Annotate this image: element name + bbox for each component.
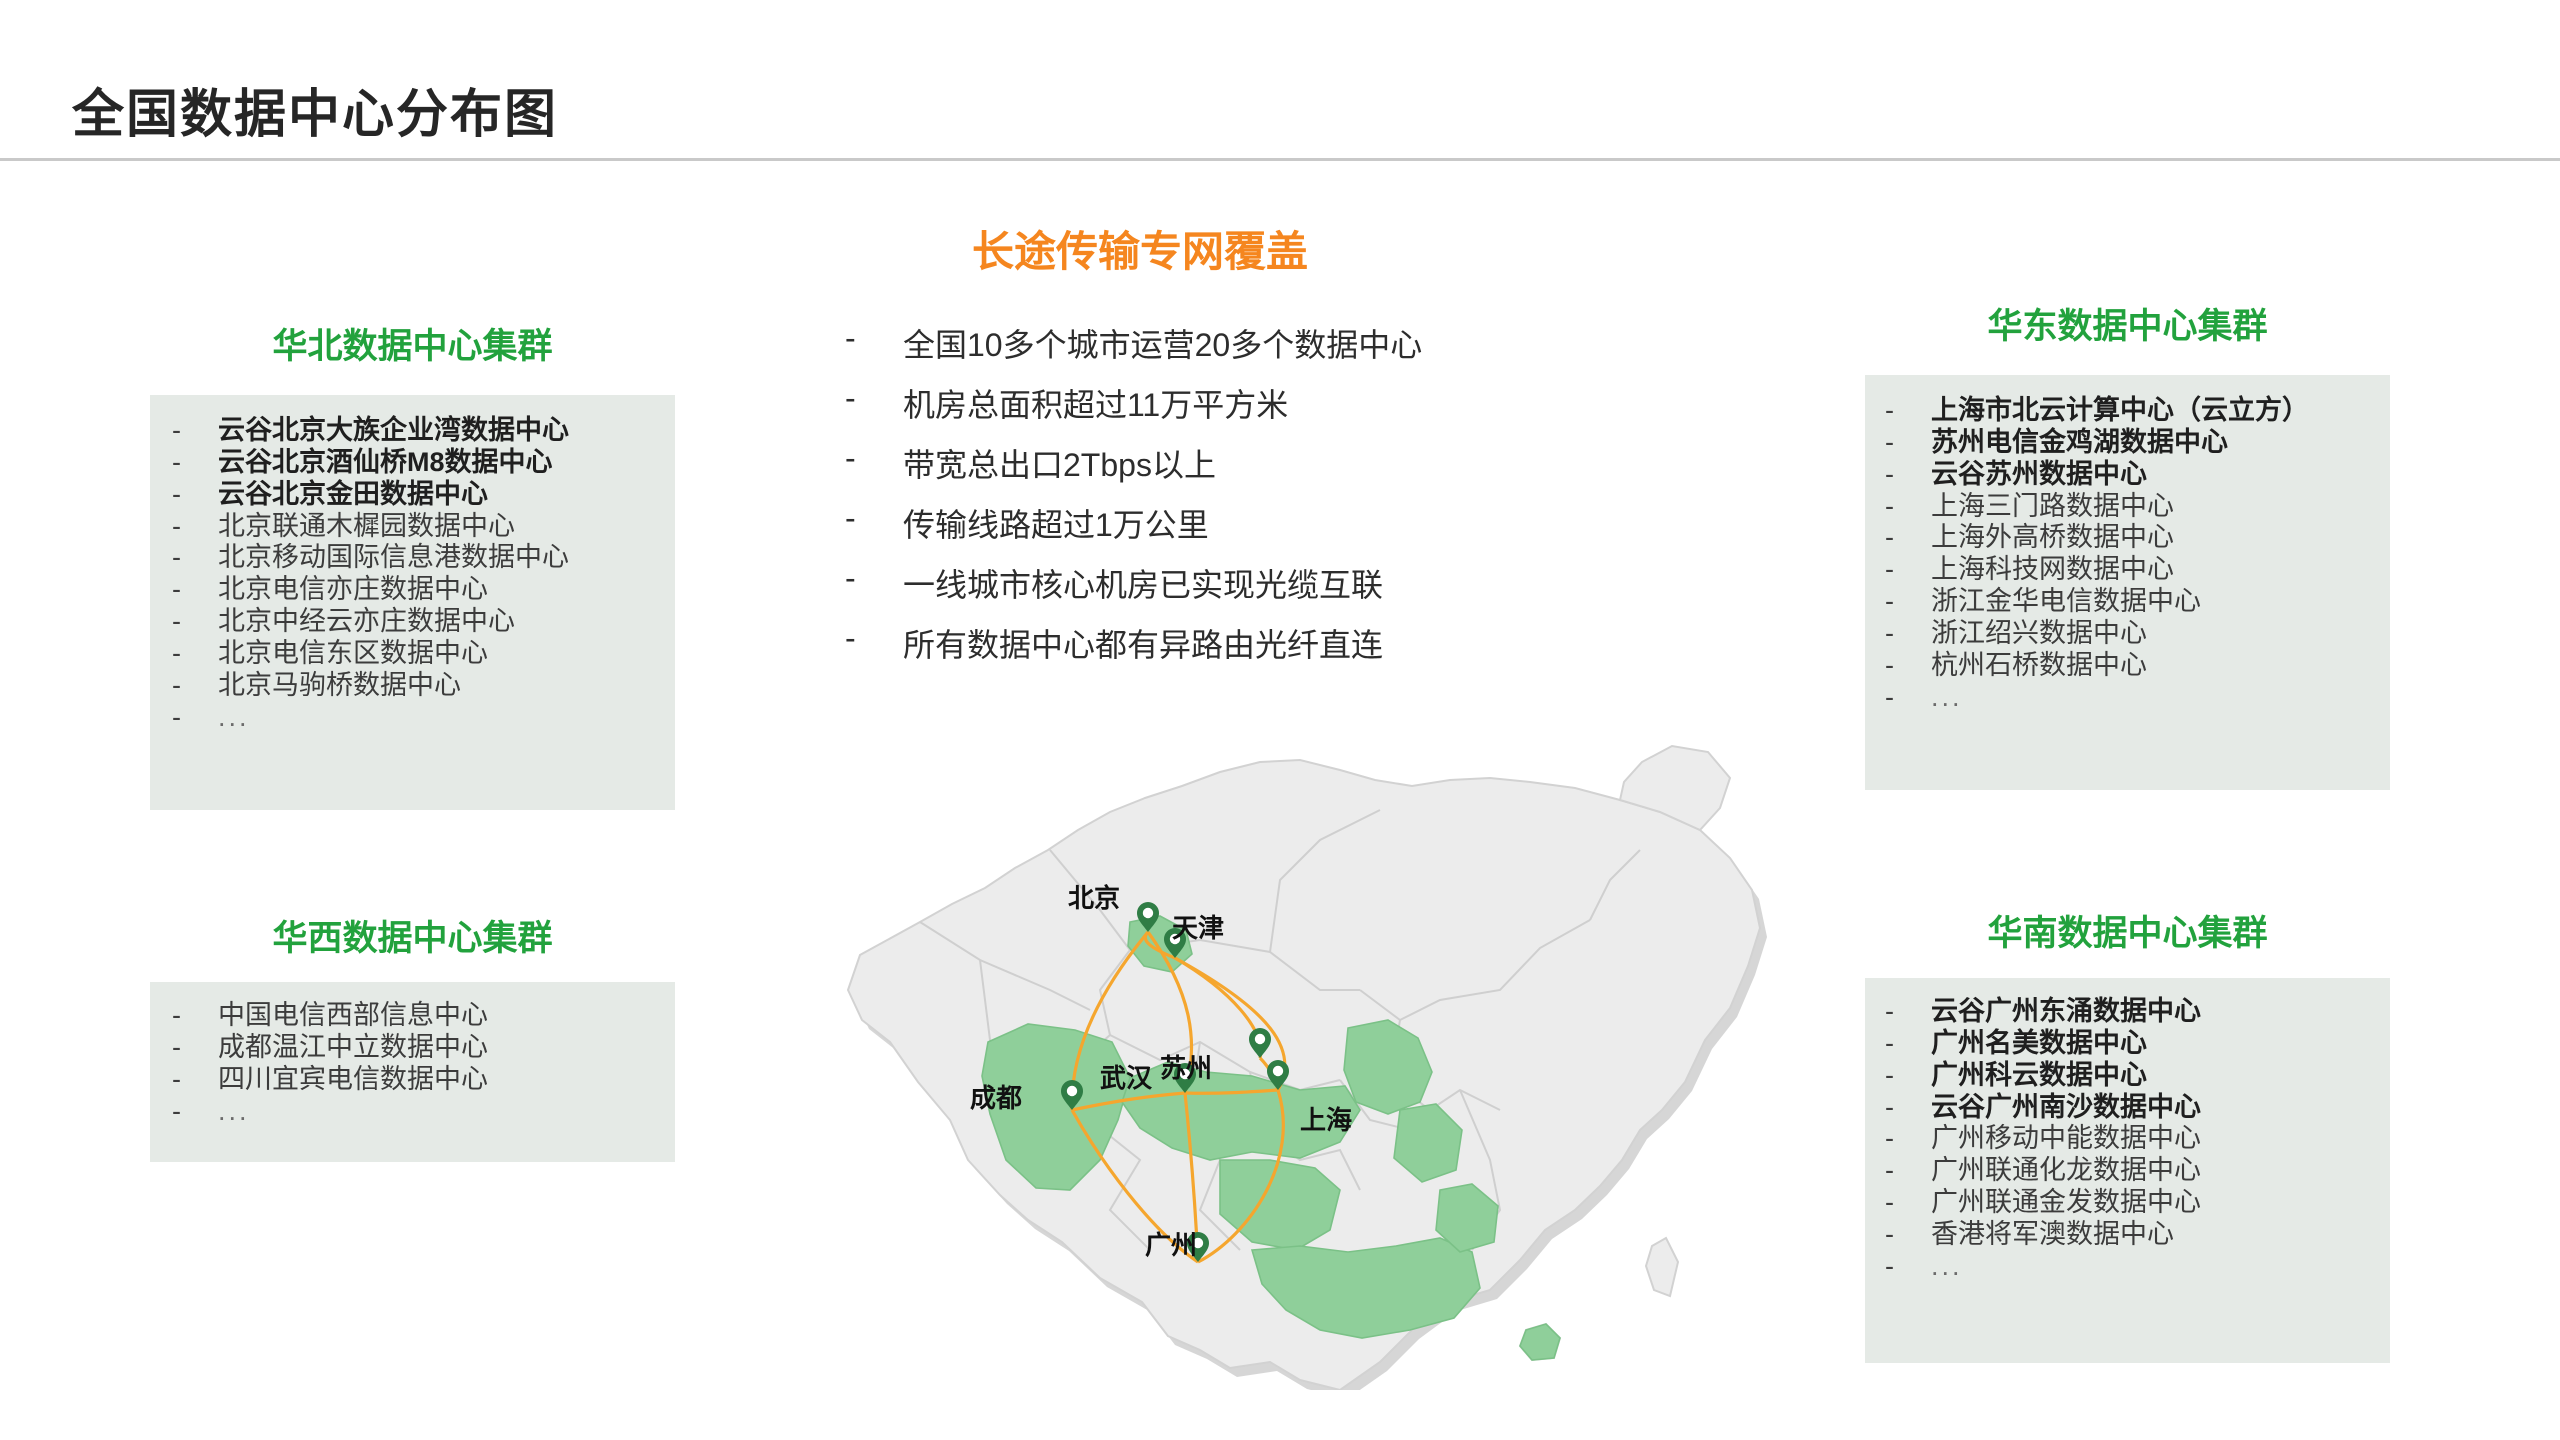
list-dash: - — [172, 415, 218, 447]
cluster-item: -北京中经云亦庄数据中心 — [172, 606, 672, 638]
header-divider — [0, 158, 2560, 161]
cluster-heading-east: 华东数据中心集群 — [1865, 298, 2390, 349]
cluster-item-label: 广州科云数据中心 — [1931, 1060, 2147, 1092]
cluster-item: -云谷北京大族企业湾数据中心 — [172, 415, 672, 447]
center-bullet: -所有数据中心都有异路由光纤直连 — [845, 620, 1422, 680]
cluster-item-label: 上海科技网数据中心 — [1931, 554, 2174, 586]
cluster-item: -北京电信东区数据中心 — [172, 638, 672, 670]
list-dash: - — [1885, 650, 1931, 682]
cluster-item-label: 北京中经云亦庄数据中心 — [218, 606, 515, 638]
bullet-dash: - — [845, 320, 903, 357]
center-bullet: -全国10多个城市运营20多个数据中心 — [845, 320, 1422, 380]
cluster-item: -北京电信亦庄数据中心 — [172, 574, 672, 606]
center-bullet-label: 所有数据中心都有异路由光纤直连 — [903, 620, 1383, 666]
cluster-heading-south: 华南数据中心集群 — [1865, 905, 2390, 956]
city-label-1: 天津 — [1172, 908, 1224, 945]
list-dash: - — [1885, 618, 1931, 650]
list-dash: - — [172, 511, 218, 543]
bullet-dash: - — [845, 500, 903, 537]
cluster-item-label: 北京电信亦庄数据中心 — [218, 574, 488, 606]
list-dash: - — [1885, 522, 1931, 554]
cluster-item: -广州联通化龙数据中心 — [1885, 1155, 2390, 1187]
cluster-item: -上海三门路数据中心 — [1885, 491, 2390, 523]
list-dash: - — [172, 1096, 218, 1128]
cluster-item-label: ... — [1931, 1251, 1963, 1283]
cluster-item: -云谷北京金田数据中心 — [172, 479, 672, 511]
cluster-item-label: 云谷北京金田数据中心 — [218, 479, 488, 511]
cluster-item-label: 上海市北云计算中心（云立方） — [1931, 395, 2309, 427]
cluster-item: -成都温江中立数据中心 — [172, 1032, 672, 1064]
china-map-svg — [800, 690, 1860, 1390]
cluster-item: -北京联通木樨园数据中心 — [172, 511, 672, 543]
cluster-heading-north: 华北数据中心集群 — [150, 318, 675, 369]
center-bullet-label: 机房总面积超过11万平方米 — [903, 380, 1288, 426]
list-dash: - — [172, 702, 218, 734]
cluster-item-label: ... — [218, 702, 250, 734]
cluster-item-label: 北京移动国际信息港数据中心 — [218, 542, 569, 574]
bullet-dash: - — [845, 380, 903, 417]
cluster-item: -上海科技网数据中心 — [1885, 554, 2390, 586]
cluster-item-label: 云谷北京酒仙桥M8数据中心 — [218, 447, 553, 479]
list-dash: - — [1885, 1251, 1931, 1283]
list-dash: - — [172, 670, 218, 702]
cluster-item-label: 浙江金华电信数据中心 — [1931, 586, 2201, 618]
cluster-item: -浙江绍兴数据中心 — [1885, 618, 2390, 650]
cluster-item: -苏州电信金鸡湖数据中心 — [1885, 427, 2390, 459]
list-dash: - — [1885, 1155, 1931, 1187]
cluster-item-label: 成都温江中立数据中心 — [218, 1032, 488, 1064]
center-bullet-label: 带宽总出口2Tbps以上 — [903, 440, 1216, 486]
list-dash: - — [1885, 1187, 1931, 1219]
center-bullet: -一线城市核心机房已实现光缆互联 — [845, 560, 1422, 620]
china-map: 北京天津苏州上海武汉成都广州 — [800, 690, 1860, 1390]
cluster-item: -广州联通金发数据中心 — [1885, 1187, 2390, 1219]
cluster-item-label: 广州移动中能数据中心 — [1931, 1123, 2201, 1155]
list-dash: - — [1885, 586, 1931, 618]
cluster-item: -浙江金华电信数据中心 — [1885, 586, 2390, 618]
cluster-item-label: 香港将军澳数据中心 — [1931, 1219, 2174, 1251]
cluster-heading-west: 华西数据中心集群 — [150, 910, 675, 961]
bullet-dash: - — [845, 620, 903, 657]
cluster-item-label: 杭州石桥数据中心 — [1931, 650, 2147, 682]
cluster-list-north: -云谷北京大族企业湾数据中心-云谷北京酒仙桥M8数据中心-云谷北京金田数据中心-… — [172, 415, 672, 734]
cluster-item: -中国电信西部信息中心 — [172, 1000, 672, 1032]
cluster-item-label: 广州名美数据中心 — [1931, 1028, 2147, 1060]
cluster-list-west: -中国电信西部信息中心-成都温江中立数据中心-四川宜宾电信数据中心-... — [172, 1000, 672, 1127]
cluster-item: -云谷苏州数据中心 — [1885, 459, 2390, 491]
cluster-item-label: 四川宜宾电信数据中心 — [218, 1064, 488, 1096]
list-dash: - — [172, 479, 218, 511]
cluster-item-label: ... — [218, 1096, 250, 1128]
city-label-0: 北京 — [1068, 878, 1120, 915]
cluster-item: -... — [1885, 682, 2390, 714]
list-dash: - — [172, 606, 218, 638]
bullet-dash: - — [845, 560, 903, 597]
cluster-item: -北京移动国际信息港数据中心 — [172, 542, 672, 574]
cluster-item: -广州移动中能数据中心 — [1885, 1123, 2390, 1155]
cluster-item: -云谷广州东涌数据中心 — [1885, 996, 2390, 1028]
list-dash: - — [172, 1032, 218, 1064]
cluster-item: -... — [172, 1096, 672, 1128]
cluster-item-label: 上海外高桥数据中心 — [1931, 522, 2174, 554]
cluster-item-label: 北京联通木樨园数据中心 — [218, 511, 515, 543]
list-dash: - — [1885, 1092, 1931, 1124]
list-dash: - — [172, 542, 218, 574]
center-bullet: -传输线路超过1万公里 — [845, 500, 1422, 560]
center-title: 长途传输专网覆盖 — [780, 218, 1500, 279]
center-bullet: -机房总面积超过11万平方米 — [845, 380, 1422, 440]
cluster-item: -四川宜宾电信数据中心 — [172, 1064, 672, 1096]
cluster-item: -杭州石桥数据中心 — [1885, 650, 2390, 682]
center-bullet: -带宽总出口2Tbps以上 — [845, 440, 1422, 500]
center-bullet-label: 全国10多个城市运营20多个数据中心 — [903, 320, 1422, 366]
center-bullet-label: 一线城市核心机房已实现光缆互联 — [903, 560, 1383, 606]
cluster-item: -广州科云数据中心 — [1885, 1060, 2390, 1092]
list-dash: - — [1885, 996, 1931, 1028]
list-dash: - — [1885, 491, 1931, 523]
list-dash: - — [172, 447, 218, 479]
cluster-item: -... — [172, 702, 672, 734]
list-dash: - — [1885, 554, 1931, 586]
cluster-item: -上海市北云计算中心（云立方） — [1885, 395, 2390, 427]
cluster-item-label: 云谷广州南沙数据中心 — [1931, 1092, 2201, 1124]
city-label-2: 苏州 — [1160, 1048, 1212, 1085]
cluster-item-label: 北京电信东区数据中心 — [218, 638, 488, 670]
center-bullet-label: 传输线路超过1万公里 — [903, 500, 1209, 546]
cluster-item: -... — [1885, 1251, 2390, 1283]
bullet-dash: - — [845, 440, 903, 477]
cluster-item-label: 广州联通化龙数据中心 — [1931, 1155, 2201, 1187]
list-dash: - — [1885, 1123, 1931, 1155]
city-label-6: 广州 — [1145, 1225, 1197, 1262]
cluster-item-label: 云谷广州东涌数据中心 — [1931, 996, 2201, 1028]
cluster-item: -广州名美数据中心 — [1885, 1028, 2390, 1060]
list-dash: - — [1885, 1028, 1931, 1060]
cluster-item: -北京马驹桥数据中心 — [172, 670, 672, 702]
cluster-item-label: 云谷苏州数据中心 — [1931, 459, 2147, 491]
cluster-item: -云谷广州南沙数据中心 — [1885, 1092, 2390, 1124]
page-title: 全国数据中心分布图 — [72, 72, 558, 147]
list-dash: - — [172, 574, 218, 606]
cluster-item-label: 苏州电信金鸡湖数据中心 — [1931, 427, 2228, 459]
list-dash: - — [1885, 1219, 1931, 1251]
cluster-item-label: 广州联通金发数据中心 — [1931, 1187, 2201, 1219]
cluster-item-label: 北京马驹桥数据中心 — [218, 670, 461, 702]
cluster-item: -上海外高桥数据中心 — [1885, 522, 2390, 554]
city-label-3: 上海 — [1300, 1100, 1352, 1137]
cluster-item: -香港将军澳数据中心 — [1885, 1219, 2390, 1251]
cluster-item-label: 云谷北京大族企业湾数据中心 — [218, 415, 569, 447]
cluster-item: -云谷北京酒仙桥M8数据中心 — [172, 447, 672, 479]
cluster-item-label: ... — [1931, 682, 1963, 714]
center-bullet-list: -全国10多个城市运营20多个数据中心-机房总面积超过11万平方米-带宽总出口2… — [845, 320, 1422, 680]
cluster-item-label: 浙江绍兴数据中心 — [1931, 618, 2147, 650]
cluster-list-south: -云谷广州东涌数据中心-广州名美数据中心-广州科云数据中心-云谷广州南沙数据中心… — [1885, 996, 2390, 1283]
city-label-4: 武汉 — [1100, 1058, 1152, 1095]
cluster-list-east: -上海市北云计算中心（云立方）-苏州电信金鸡湖数据中心-云谷苏州数据中心-上海三… — [1885, 395, 2390, 714]
list-dash: - — [172, 1000, 218, 1032]
list-dash: - — [1885, 395, 1931, 427]
list-dash: - — [172, 1064, 218, 1096]
list-dash: - — [1885, 459, 1931, 491]
cluster-item-label: 上海三门路数据中心 — [1931, 491, 2174, 523]
list-dash: - — [1885, 427, 1931, 459]
cluster-item-label: 中国电信西部信息中心 — [218, 1000, 488, 1032]
list-dash: - — [172, 638, 218, 670]
list-dash: - — [1885, 682, 1931, 714]
list-dash: - — [1885, 1060, 1931, 1092]
city-label-5: 成都 — [970, 1078, 1022, 1115]
